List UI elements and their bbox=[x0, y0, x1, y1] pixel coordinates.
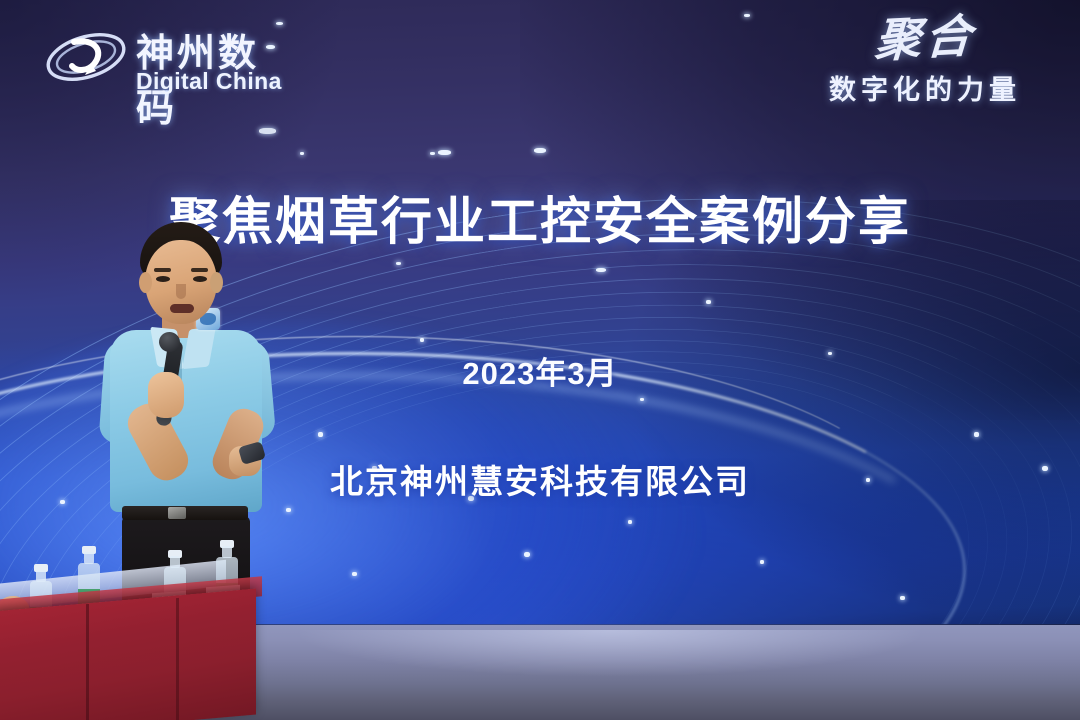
event-brand-subtitle: 数字化的力量 bbox=[794, 68, 1056, 107]
speaker-eye-left bbox=[156, 276, 170, 282]
speaker-belt-buckle bbox=[168, 507, 186, 519]
event-brand-block: 聚合 数字化的力量 bbox=[794, 16, 1056, 120]
conference-stage-photo: 神州数码 Digital China 聚合 数字化的力量 聚焦烟草行业工控安全案… bbox=[0, 0, 1080, 720]
event-brand-calligraphy: 聚合 bbox=[874, 13, 977, 64]
digital-china-logo: 神州数码 Digital China bbox=[44, 20, 294, 98]
speaker-brow-right bbox=[191, 268, 208, 272]
floor-reflection bbox=[300, 630, 920, 676]
speaker-eye-right bbox=[193, 276, 207, 282]
speaker-ear-left bbox=[139, 272, 152, 293]
table-cloth-fold bbox=[176, 598, 179, 720]
speaker-mouth bbox=[170, 304, 194, 313]
table-cloth-fold bbox=[86, 604, 89, 720]
speaker-ear-right bbox=[210, 272, 223, 293]
red-table-cloth bbox=[0, 589, 256, 720]
logo-english-name: Digital China bbox=[136, 68, 282, 95]
speaker-nose bbox=[176, 284, 186, 299]
vignette-right bbox=[620, 200, 1080, 630]
speaker-hand-left bbox=[148, 372, 184, 418]
swirl-logo-icon bbox=[44, 24, 128, 90]
speaker-brow-left bbox=[154, 268, 171, 272]
